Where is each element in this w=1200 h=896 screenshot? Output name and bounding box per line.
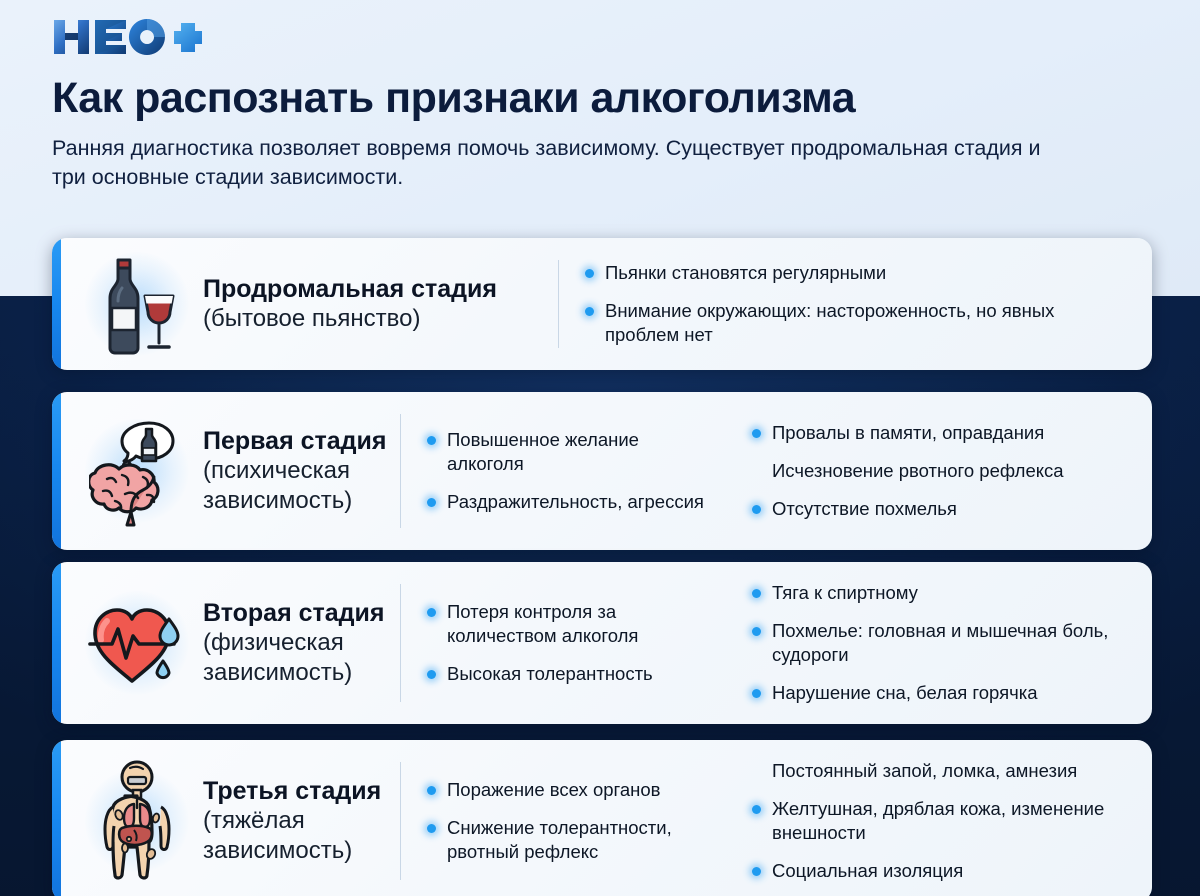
list-item-text: Потеря контроля за количеством алкоголя bbox=[447, 600, 720, 648]
list-item: Внимание окружающих: настороженность, но… bbox=[585, 299, 1132, 347]
list-item-text: Высокая толерантность bbox=[447, 662, 653, 686]
list-item-text: Исчезновение рвотного рефлекса bbox=[772, 459, 1064, 483]
list-item-text: Желтушная, дряблая кожа, изменение внешн… bbox=[772, 797, 1132, 845]
page-subtitle: Ранняя диагностика позволяет вовремя пом… bbox=[52, 134, 1072, 191]
bullet-dot-icon bbox=[752, 505, 761, 514]
list-item: Раздражительность, агрессия bbox=[427, 490, 720, 514]
stage-header: Продромальная стадия (бытовое пьянство) bbox=[61, 238, 558, 370]
brain-with-alcohol-thought-icon bbox=[83, 415, 191, 527]
card-accent-bar bbox=[52, 238, 61, 370]
list-item-text: Нарушение сна, белая горячка bbox=[772, 681, 1038, 705]
bullet-dot-icon bbox=[585, 269, 594, 278]
stage-card-second[interactable]: Вторая стадия (физическая зависимость) П… bbox=[52, 562, 1152, 724]
stage-header: Первая стадия (психическая зависимость) bbox=[61, 392, 400, 550]
bullet-dot-icon bbox=[427, 608, 436, 617]
stage-card-first[interactable]: Первая стадия (психическая зависимость) … bbox=[52, 392, 1152, 550]
bullet-dot-icon bbox=[752, 627, 761, 636]
list-item: Высокая толерантность bbox=[427, 662, 720, 686]
list-item: Похмелье: головная и мышечная боль, судо… bbox=[752, 619, 1132, 667]
page-title: Как распознать признаки алкоголизма bbox=[52, 74, 1152, 122]
list-item: Отсутствие похмелья bbox=[752, 497, 1132, 521]
stage-subtitle: (психическая зависимость) bbox=[203, 456, 400, 516]
stage-subtitle: (тяжёлая зависимость) bbox=[203, 806, 400, 866]
stage-header: Третья стадия (тяжёлая зависимость) bbox=[61, 740, 400, 896]
card-accent-bar bbox=[52, 740, 61, 896]
list-item: Тяга к спиртному bbox=[752, 581, 1132, 605]
list-item: Провалы в памяти, оправдания bbox=[752, 421, 1132, 445]
bullet-dot-icon bbox=[752, 805, 761, 814]
list-item: Снижение толерантности, рвотный рефлекс bbox=[427, 816, 720, 864]
stage-name: Первая стадия bbox=[203, 426, 400, 457]
bullet-dot-icon bbox=[427, 786, 436, 795]
human-body-organs-icon bbox=[83, 760, 191, 882]
bullet-column: Пьянки становятся регулярными Внимание о… bbox=[559, 238, 1138, 370]
bullet-column: Повышенное желание алкоголя Раздражитель… bbox=[401, 392, 726, 550]
stage-card-third[interactable]: Третья стадия (тяжёлая зависимость) Пора… bbox=[52, 740, 1152, 896]
bullet-column: Поражение всех органов Снижение толерант… bbox=[401, 740, 726, 896]
bullet-column: Потеря контроля за количеством алкоголя … bbox=[401, 562, 726, 724]
stage-name: Вторая стадия bbox=[203, 598, 400, 629]
bullet-dot-icon bbox=[752, 867, 761, 876]
list-item: Нарушение сна, белая горячка bbox=[752, 681, 1132, 705]
list-item-text: Похмелье: головная и мышечная боль, судо… bbox=[772, 619, 1132, 667]
bullet-dot-icon bbox=[427, 498, 436, 507]
brand-logo bbox=[52, 14, 1152, 60]
bullet-dot-icon bbox=[752, 429, 761, 438]
list-item: Исчезновение рвотного рефлекса bbox=[752, 459, 1132, 483]
list-item-text: Социальная изоляция bbox=[772, 859, 963, 883]
bullet-dot-icon bbox=[752, 589, 761, 598]
stage-subtitle: (бытовое пьянство) bbox=[203, 304, 497, 334]
bullet-dot-icon bbox=[427, 436, 436, 445]
list-item-text: Раздражительность, агрессия bbox=[447, 490, 704, 514]
bullet-dot-icon bbox=[427, 670, 436, 679]
bullet-dot-icon bbox=[585, 307, 594, 316]
list-item: Социальная изоляция bbox=[752, 859, 1132, 883]
list-item-text: Провалы в памяти, оправдания bbox=[772, 421, 1044, 445]
list-item-text: Тяга к спиртному bbox=[772, 581, 918, 605]
list-item-text: Снижение толерантности, рвотный рефлекс bbox=[447, 816, 720, 864]
list-item: Пьянки становятся регулярными bbox=[585, 261, 1132, 285]
list-item: Желтушная, дряблая кожа, изменение внешн… bbox=[752, 797, 1132, 845]
stage-subtitle: (физическая зависимость) bbox=[203, 628, 400, 688]
stage-card-prodromal[interactable]: Продромальная стадия (бытовое пьянство) … bbox=[52, 238, 1152, 370]
stage-header: Вторая стадия (физическая зависимость) bbox=[61, 562, 400, 724]
bullet-dot-icon bbox=[752, 689, 761, 698]
bullet-column: Постоянный запой, ломка, амнезия Желтушн… bbox=[726, 740, 1138, 896]
list-item: Повышенное желание алкоголя bbox=[427, 428, 720, 476]
list-item-text: Пьянки становятся регулярными bbox=[605, 261, 886, 285]
list-item-text: Постоянный запой, ломка, амнезия bbox=[772, 759, 1077, 783]
list-item: Поражение всех органов bbox=[427, 778, 720, 802]
list-item-text: Внимание окружающих: настороженность, но… bbox=[605, 299, 1132, 347]
list-item-text: Повышенное желание алкоголя bbox=[447, 428, 720, 476]
stage-name: Третья стадия bbox=[203, 776, 400, 807]
card-accent-bar bbox=[52, 562, 61, 724]
neo-plus-logo-icon bbox=[52, 17, 204, 57]
bullet-dot-icon bbox=[427, 824, 436, 833]
heart-with-pulse-and-droplets-icon bbox=[83, 595, 191, 691]
card-accent-bar bbox=[52, 392, 61, 550]
list-item: Постоянный запой, ломка, амнезия bbox=[752, 759, 1132, 783]
bullet-column: Тяга к спиртному Похмелье: головная и мы… bbox=[726, 562, 1138, 724]
bullet-column: Провалы в памяти, оправдания Исчезновени… bbox=[726, 392, 1138, 550]
stage-name: Продромальная стадия bbox=[203, 274, 497, 305]
list-item-text: Поражение всех органов bbox=[447, 778, 661, 802]
header: Как распознать признаки алкоголизма Ранн… bbox=[52, 14, 1152, 191]
list-item: Потеря контроля за количеством алкоголя bbox=[427, 600, 720, 648]
list-item-text: Отсутствие похмелья bbox=[772, 497, 957, 521]
wine-bottle-and-glass-icon bbox=[83, 252, 191, 356]
